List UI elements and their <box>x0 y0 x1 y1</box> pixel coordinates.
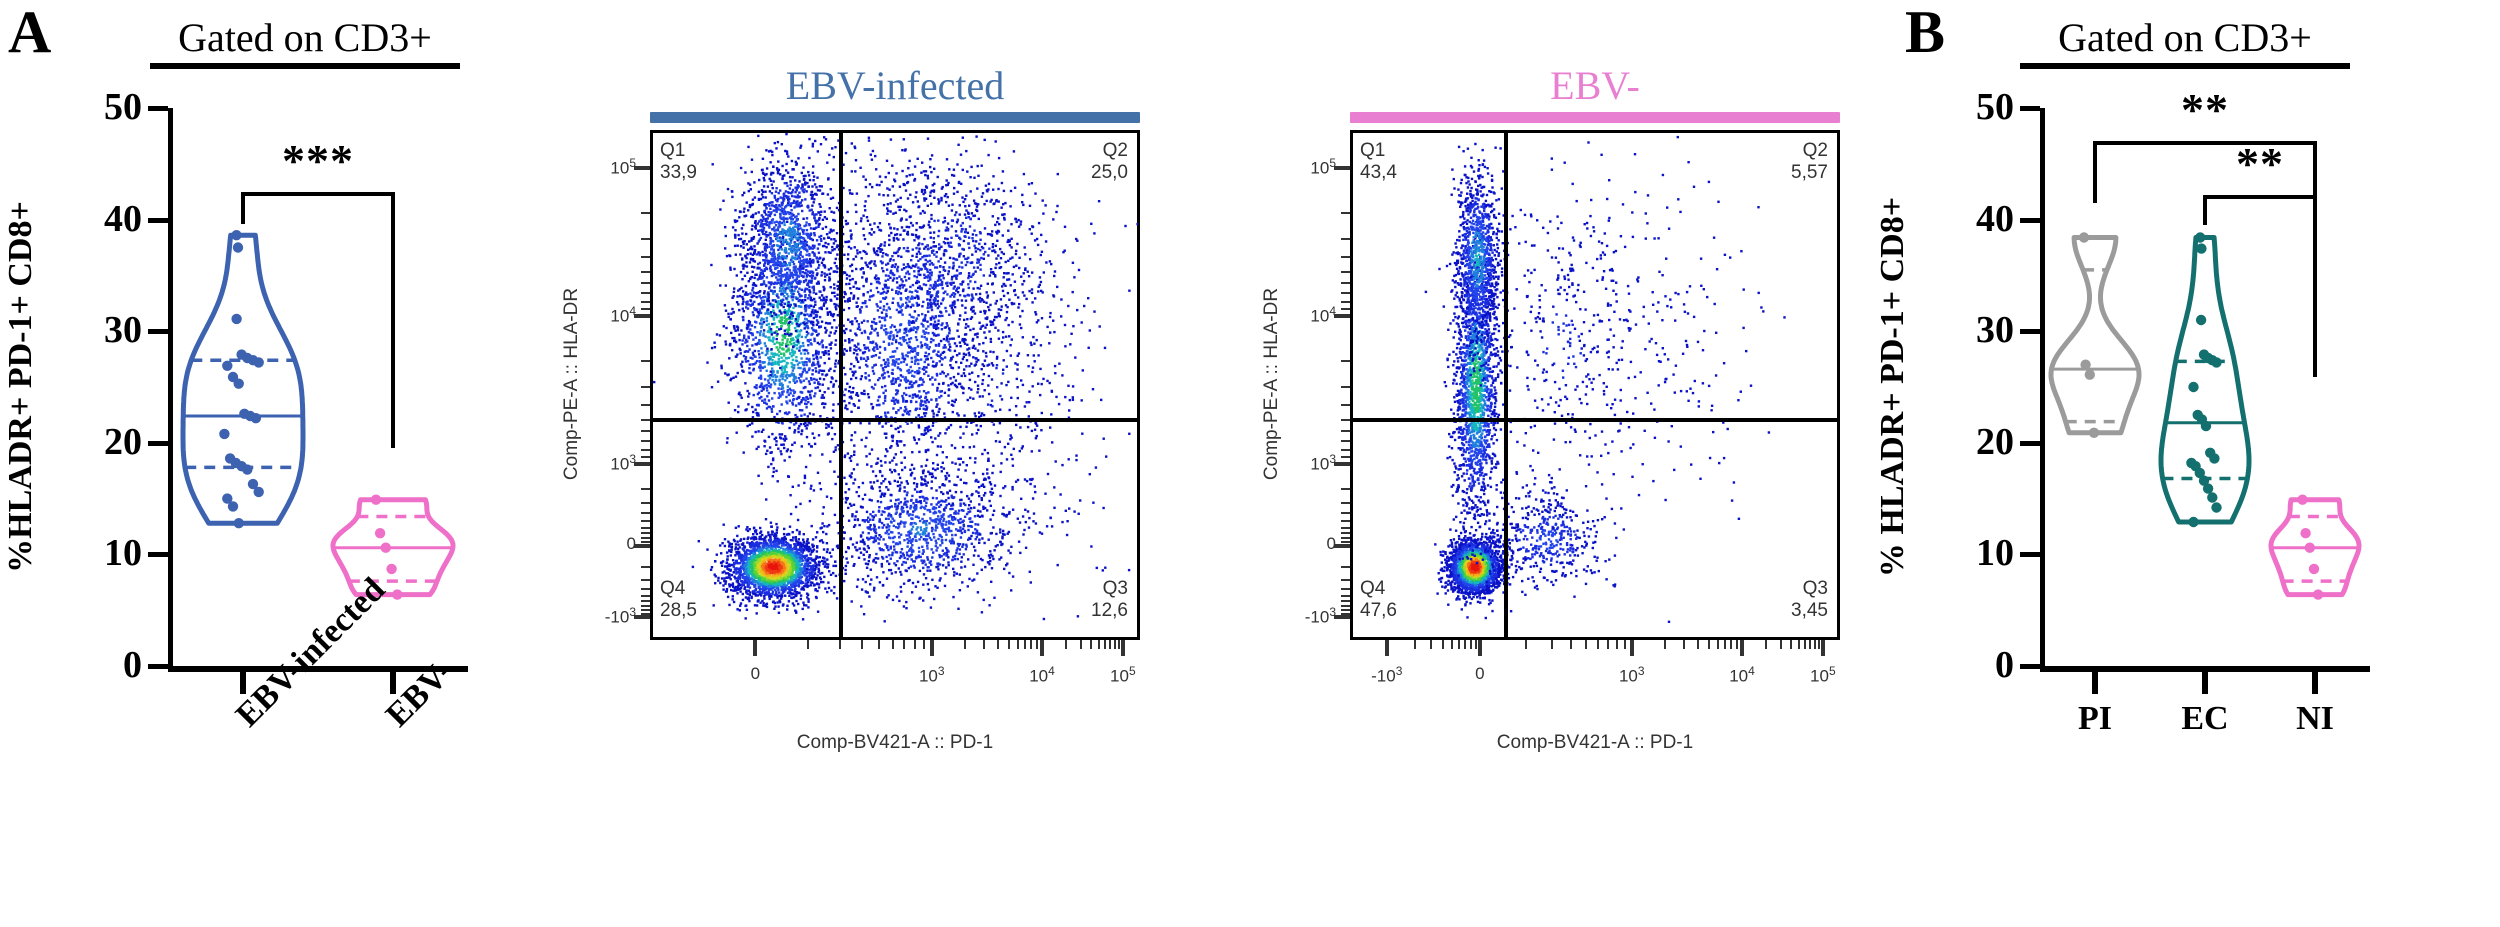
violin-data-point <box>2211 502 2221 512</box>
y-tick <box>148 329 168 334</box>
violin-data-point <box>2207 492 2217 502</box>
y-tick-label: 50 <box>1924 88 2014 126</box>
violin-data-point <box>2079 232 2089 242</box>
flow-x-minor-tick <box>1798 640 1800 649</box>
flow-x-minor-tick <box>983 640 985 649</box>
flow-x-tick <box>1121 640 1125 656</box>
flow-y-minor-tick <box>1341 527 1350 529</box>
violin-data-point <box>233 242 243 252</box>
flow-x-minor-tick <box>1114 640 1116 649</box>
violin-data-point <box>2196 243 2206 253</box>
violin-data-point <box>371 495 381 505</box>
x-axis-category-label: NI <box>2296 700 2334 738</box>
flow-x-minor-tick <box>1765 640 1767 649</box>
flow-y-tick-label: 104 <box>578 304 636 327</box>
y-tick <box>2020 552 2040 557</box>
flow-x-minor-tick <box>1442 640 1444 649</box>
flow-x-minor-tick <box>878 640 880 649</box>
flow1-y-axis-title: Comp-PE-A :: HLA-DR <box>561 244 583 524</box>
violin-data-point <box>234 518 244 528</box>
flow-x-tick-label: 104 <box>1729 664 1755 687</box>
flow-y-minor-tick <box>641 256 650 258</box>
flow-x-minor-tick <box>1458 640 1460 649</box>
flow-y-minor-tick <box>1341 609 1350 611</box>
flow-y-tick <box>1334 544 1350 548</box>
violin-data-point <box>2300 528 2310 538</box>
panel-a-violin-chart: %HLADR+ PD-1+ CD8+ *** 01020304050EBV-in… <box>0 0 520 927</box>
violin-data-point <box>375 528 385 538</box>
flow-y-minor-tick <box>641 537 650 539</box>
flow-y-minor-tick <box>641 440 650 442</box>
flow-x-minor-tick <box>1814 640 1816 649</box>
flow-x-minor-tick <box>1818 640 1820 649</box>
flow-y-minor-tick <box>641 502 650 504</box>
flow-y-minor-tick <box>1341 419 1350 421</box>
flow-y-tick-label: 103 <box>578 452 636 475</box>
flow-y-minor-tick <box>1341 566 1350 568</box>
flow-x-tick-label: 0 <box>751 664 760 684</box>
flow-plot-ebv-negative: EBV- Q143,4 Q25,57 Q33,45 Q447,6 Comp-BV… <box>1230 0 1890 927</box>
x-axis-category-label: EC <box>2181 700 2228 738</box>
flow-x-minor-tick <box>1597 640 1599 649</box>
flow-y-tick-label: 0 <box>1278 534 1336 554</box>
flow-x-minor-tick <box>1780 640 1782 649</box>
violin-data-point <box>2188 382 2198 392</box>
panel-b-violin-shapes <box>1890 0 2500 927</box>
violin-data-point <box>2313 589 2323 599</box>
flow-y-minor-tick <box>1341 488 1350 490</box>
flow-y-tick <box>1334 314 1350 318</box>
flow-y-minor-tick <box>1341 502 1350 504</box>
x-tick <box>2092 672 2098 694</box>
flow2-quadrant-vertical-gate <box>1504 130 1508 640</box>
flow-x-minor-tick <box>839 640 841 649</box>
flow-x-minor-tick <box>1080 640 1082 649</box>
violin-data-point <box>222 361 232 371</box>
flow-y-minor-tick <box>1341 301 1350 303</box>
violin-data-point <box>2211 357 2221 367</box>
flow-y-minor-tick <box>1341 282 1350 284</box>
y-tick-label: 50 <box>52 88 142 126</box>
flow-y-minor-tick <box>641 419 650 421</box>
flow-x-minor-tick <box>807 640 809 649</box>
flow-y-minor-tick <box>1341 537 1350 539</box>
flow-y-minor-tick <box>641 292 650 294</box>
flow2-quadrant-horizontal-gate <box>1350 418 1840 422</box>
flow-x-tick <box>1740 640 1744 656</box>
flow-x-minor-tick <box>1724 640 1726 649</box>
flow-y-minor-tick <box>641 386 650 388</box>
y-tick <box>148 441 168 446</box>
flow-y-minor-tick <box>641 301 650 303</box>
flow-y-minor-tick <box>1341 212 1350 214</box>
flow-y-minor-tick <box>1341 404 1350 406</box>
violin-data-point <box>2085 370 2095 380</box>
flow-y-tick <box>634 314 650 318</box>
flow-y-minor-tick <box>641 238 650 240</box>
violin-data-point <box>2089 428 2099 438</box>
flow-x-minor-tick <box>1470 640 1472 649</box>
flow-x-minor-tick <box>1414 640 1416 649</box>
flow-y-tick-label: 0 <box>578 534 636 554</box>
y-tick-label: 30 <box>1924 311 2014 349</box>
flow-x-tick <box>1385 640 1389 656</box>
flow-y-tick <box>1334 615 1350 619</box>
flow-y-tick-label: 105 <box>1278 156 1336 179</box>
flow-y-tick-label: 105 <box>578 156 636 179</box>
flow-x-tick-label: 0 <box>1475 664 1484 684</box>
flow-x-minor-tick <box>1109 640 1111 649</box>
flow-x-minor-tick <box>1017 640 1019 649</box>
y-tick <box>2020 441 2040 446</box>
flow-y-minor-tick <box>641 595 650 597</box>
flow-x-tick <box>1821 640 1825 656</box>
violin-outline <box>183 235 303 523</box>
y-tick <box>2020 106 2040 111</box>
flow-y-tick <box>1334 462 1350 466</box>
flow2-quadrant-q2: Q25,57 <box>1748 140 1828 184</box>
violin-data-point <box>2297 495 2307 505</box>
flow-y-minor-tick <box>1341 440 1350 442</box>
violin-outline <box>2051 238 2139 433</box>
flow-x-tick <box>1630 640 1634 656</box>
flow-y-minor-tick <box>1341 541 1350 543</box>
y-tick-label: 0 <box>1924 646 2014 684</box>
x-axis-category-label: PI <box>2078 700 2112 738</box>
flow-y-minor-tick <box>641 520 650 522</box>
violin-data-point <box>2196 315 2206 325</box>
x-tick <box>2312 672 2318 694</box>
violin-data-point <box>2080 360 2090 370</box>
flow1-quadrant-horizontal-gate <box>650 418 1140 422</box>
flow-y-minor-tick <box>1341 456 1350 458</box>
flow1-quadrant-q1: Q133,9 <box>660 140 697 184</box>
flow-x-tick <box>753 640 757 656</box>
y-tick-label: 20 <box>52 423 142 461</box>
violin-data-point <box>219 429 229 439</box>
flow-x-minor-tick <box>923 640 925 649</box>
y-tick-label: 0 <box>52 646 142 684</box>
flow-x-minor-tick <box>1008 640 1010 649</box>
flow-x-minor-tick <box>1464 640 1466 649</box>
flow-x-minor-tick <box>1683 640 1685 649</box>
y-tick <box>2020 218 2040 223</box>
violin-data-point <box>242 464 252 474</box>
flow-x-minor-tick <box>1790 640 1792 649</box>
panel-a-violin-shapes <box>0 0 520 927</box>
flow-x-minor-tick <box>1585 640 1587 649</box>
flow-x-tick-label: 103 <box>1619 664 1645 687</box>
flow-x-minor-tick <box>1118 640 1120 649</box>
flow-y-minor-tick <box>641 541 650 543</box>
flow-y-minor-tick <box>1341 588 1350 590</box>
violin-data-point <box>228 501 238 511</box>
violin-data-point <box>2188 517 2198 527</box>
flow-plot-ebv-infected: EBV-infected Q133,9 Q225,0 Q312,6 Q428,5… <box>530 0 1190 927</box>
flow-y-minor-tick <box>641 360 650 362</box>
flow-y-minor-tick <box>1341 449 1350 451</box>
flow2-quadrant-q1: Q143,4 <box>1360 140 1397 184</box>
flow-y-tick-label: 103 <box>1278 452 1336 475</box>
flow-y-minor-tick <box>1341 605 1350 607</box>
flow-y-minor-tick <box>641 532 650 534</box>
flow-x-tick-label: -103 <box>1371 664 1402 687</box>
flow-y-minor-tick <box>1341 430 1350 432</box>
flow-x-minor-tick <box>1551 640 1553 649</box>
flow-y-minor-tick <box>641 609 650 611</box>
flow-x-minor-tick <box>1104 640 1106 649</box>
flow-x-minor-tick <box>903 640 905 649</box>
flow-y-minor-tick <box>1341 579 1350 581</box>
flow-x-minor-tick <box>1736 640 1738 649</box>
flow-y-minor-tick <box>1341 292 1350 294</box>
flow-x-minor-tick <box>1090 640 1092 649</box>
flow-x-tick <box>1478 640 1482 656</box>
flow-x-minor-tick <box>1430 640 1432 649</box>
flow-x-minor-tick <box>1616 640 1618 649</box>
flow-y-tick-label: -103 <box>1278 605 1336 628</box>
flow-x-tick-label: 103 <box>919 664 945 687</box>
flow-x-minor-tick <box>1664 640 1666 649</box>
flow-x-minor-tick <box>1717 640 1719 649</box>
figure-root: A Gated on CD3+ %HLADR+ PD-1+ CD8+ *** 0… <box>0 0 2500 927</box>
flow-y-minor-tick <box>641 282 650 284</box>
flow-y-minor-tick <box>641 430 650 432</box>
flow-y-minor-tick <box>641 527 650 529</box>
flow-x-minor-tick <box>1475 640 1477 649</box>
flow-y-minor-tick <box>1341 360 1350 362</box>
flow-x-tick <box>1040 640 1044 656</box>
flow-y-minor-tick <box>1341 532 1350 534</box>
flow-y-minor-tick <box>641 212 650 214</box>
flow-y-minor-tick <box>1341 613 1350 615</box>
flow-y-tick <box>634 615 650 619</box>
flow-y-minor-tick <box>641 404 650 406</box>
violin-data-point <box>392 589 402 599</box>
violin-data-point <box>2195 232 2205 242</box>
flow-y-minor-tick <box>1341 308 1350 310</box>
flow-y-minor-tick <box>641 271 650 273</box>
flow2-quadrant-q3: Q33,45 <box>1748 578 1828 622</box>
flow-y-tick <box>1334 166 1350 170</box>
violin-data-point <box>231 314 241 324</box>
flow-y-minor-tick <box>1341 512 1350 514</box>
y-tick-label: 10 <box>1924 534 2014 572</box>
flow-x-minor-tick <box>1065 640 1067 649</box>
x-tick <box>2202 672 2208 694</box>
flow-y-tick-label: 104 <box>1278 304 1336 327</box>
violin-data-point <box>251 413 261 423</box>
flow-y-tick <box>634 166 650 170</box>
flow-y-minor-tick <box>1341 271 1350 273</box>
y-tick <box>2020 664 2040 669</box>
y-tick-label: 30 <box>52 311 142 349</box>
violin-data-point <box>2305 543 2315 553</box>
flow-y-minor-tick <box>1341 256 1350 258</box>
flow-x-minor-tick <box>1697 640 1699 649</box>
violin-data-point <box>254 487 264 497</box>
y-tick-label: 40 <box>52 200 142 238</box>
flow-y-minor-tick <box>641 512 650 514</box>
flow2-x-axis-title: Comp-BV421-A :: PD-1 <box>1497 732 1693 754</box>
flow-x-minor-tick <box>1525 640 1527 649</box>
flow1-quadrant-q2: Q225,0 <box>1048 140 1128 184</box>
flow-y-minor-tick <box>641 308 650 310</box>
flow-x-minor-tick <box>964 640 966 649</box>
flow-y-minor-tick <box>641 600 650 602</box>
violin-data-point <box>234 379 244 389</box>
flow-x-minor-tick <box>861 640 863 649</box>
violin-data-point <box>254 357 264 367</box>
violin-data-point <box>386 564 396 574</box>
flow2-quadrant-q4: Q447,6 <box>1360 578 1397 622</box>
flow-y-tick-label: -103 <box>578 605 636 628</box>
violin-data-point <box>2201 421 2211 431</box>
flow1-quadrant-q3: Q312,6 <box>1048 578 1128 622</box>
flow1-quadrant-vertical-gate <box>839 130 843 640</box>
y-tick-label: 10 <box>52 534 142 572</box>
y-tick-label: 40 <box>1924 200 2014 238</box>
flow-x-minor-tick <box>1024 640 1026 649</box>
flow1-quadrant-q4: Q428,5 <box>660 578 697 622</box>
flow-y-tick <box>634 462 650 466</box>
y-tick <box>148 664 168 669</box>
flow-y-minor-tick <box>641 449 650 451</box>
flow-y-minor-tick <box>641 613 650 615</box>
flow-x-minor-tick <box>1030 640 1032 649</box>
flow2-y-axis-title: Comp-PE-A :: HLA-DR <box>1261 244 1283 524</box>
flow-x-minor-tick <box>914 640 916 649</box>
flow1-x-axis-title: Comp-BV421-A :: PD-1 <box>797 732 993 754</box>
flow-y-minor-tick <box>641 488 650 490</box>
y-tick <box>2020 329 2040 334</box>
flow-x-minor-tick <box>1708 640 1710 649</box>
flow-y-tick <box>634 544 650 548</box>
flow-y-minor-tick <box>641 588 650 590</box>
violin-data-point <box>231 230 241 240</box>
flow-y-minor-tick <box>1341 520 1350 522</box>
flow-x-minor-tick <box>1607 640 1609 649</box>
y-tick <box>148 106 168 111</box>
violin-data-point <box>2309 564 2319 574</box>
flow-y-minor-tick <box>641 566 650 568</box>
flow-x-minor-tick <box>1624 640 1626 649</box>
flow-x-minor-tick <box>997 640 999 649</box>
flow-x-tick-label: 104 <box>1029 664 1055 687</box>
flow-y-minor-tick <box>641 579 650 581</box>
violin-data-point <box>2209 453 2219 463</box>
violin-data-point <box>381 543 391 553</box>
flow-y-minor-tick <box>1341 238 1350 240</box>
violin-data-point <box>2203 483 2213 493</box>
y-tick-label: 20 <box>1924 423 2014 461</box>
y-tick <box>148 218 168 223</box>
flow-x-minor-tick <box>1570 640 1572 649</box>
y-tick <box>148 552 168 557</box>
flow-x-tick-label: 105 <box>1810 664 1836 687</box>
flow-x-minor-tick <box>1451 640 1453 649</box>
flow-y-minor-tick <box>641 456 650 458</box>
flow-y-minor-tick <box>1341 386 1350 388</box>
flow-x-minor-tick <box>892 640 894 649</box>
flow-y-minor-tick <box>1341 595 1350 597</box>
flow-x-minor-tick <box>1036 640 1038 649</box>
flow-x-minor-tick <box>1730 640 1732 649</box>
panel-b-violin-chart: % HLADR+ PD-1+ CD8+ ** ** 01020304050PIE… <box>1890 0 2500 927</box>
flow-x-tick-label: 105 <box>1110 664 1136 687</box>
flow-y-minor-tick <box>1341 600 1350 602</box>
flow-x-tick <box>930 640 934 656</box>
flow-x-minor-tick <box>1809 640 1811 649</box>
flow-y-minor-tick <box>641 605 650 607</box>
flow-x-minor-tick <box>1098 640 1100 649</box>
flow-x-minor-tick <box>1804 640 1806 649</box>
